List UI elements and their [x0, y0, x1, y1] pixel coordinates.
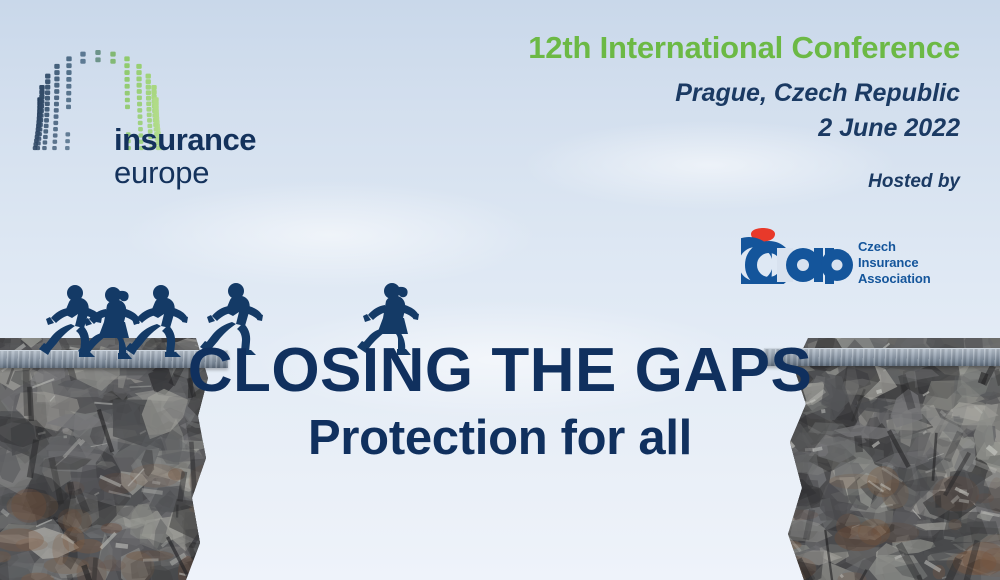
- cap-association-name: Czech Insurance Association: [858, 239, 931, 287]
- insurance-europe-logo: insurance europe: [32, 28, 282, 173]
- runner-woman-2: [355, 282, 419, 361]
- header-text-block: 12th International Conference Prague, Cz…: [400, 30, 960, 193]
- cloud-wisp: [250, 300, 750, 420]
- cliff-right-rock: [764, 338, 1000, 580]
- cap-name-line-1: Czech: [858, 239, 931, 255]
- rocky-cliff-left: [0, 338, 224, 580]
- conference-banner: insurance europe 12th International Conf…: [0, 0, 1000, 580]
- cap-name-line-2: Insurance: [858, 255, 931, 271]
- cloud-wisp: [120, 180, 540, 290]
- insurance-europe-wordmark: insurance europe: [114, 124, 256, 188]
- cap-wordmark-icon: [741, 222, 853, 284]
- conference-title: 12th International Conference: [400, 30, 960, 66]
- runner-man-3: [199, 282, 263, 361]
- rocky-cliff-right: [764, 338, 1000, 580]
- logo-text-europe: europe: [114, 157, 256, 188]
- bridge-slab-right: [764, 348, 1000, 366]
- cap-host-logo: Czech Insurance Association: [741, 222, 967, 284]
- conference-date: 2 June 2022: [400, 113, 960, 143]
- conference-location: Prague, Czech Republic: [400, 78, 960, 108]
- runner-man-2: [124, 284, 188, 363]
- logo-text-insurance: insurance: [114, 124, 256, 155]
- hosted-by-label: Hosted by: [400, 171, 960, 193]
- cap-name-line-3: Association: [858, 271, 931, 287]
- cliff-left-rock: [0, 338, 224, 580]
